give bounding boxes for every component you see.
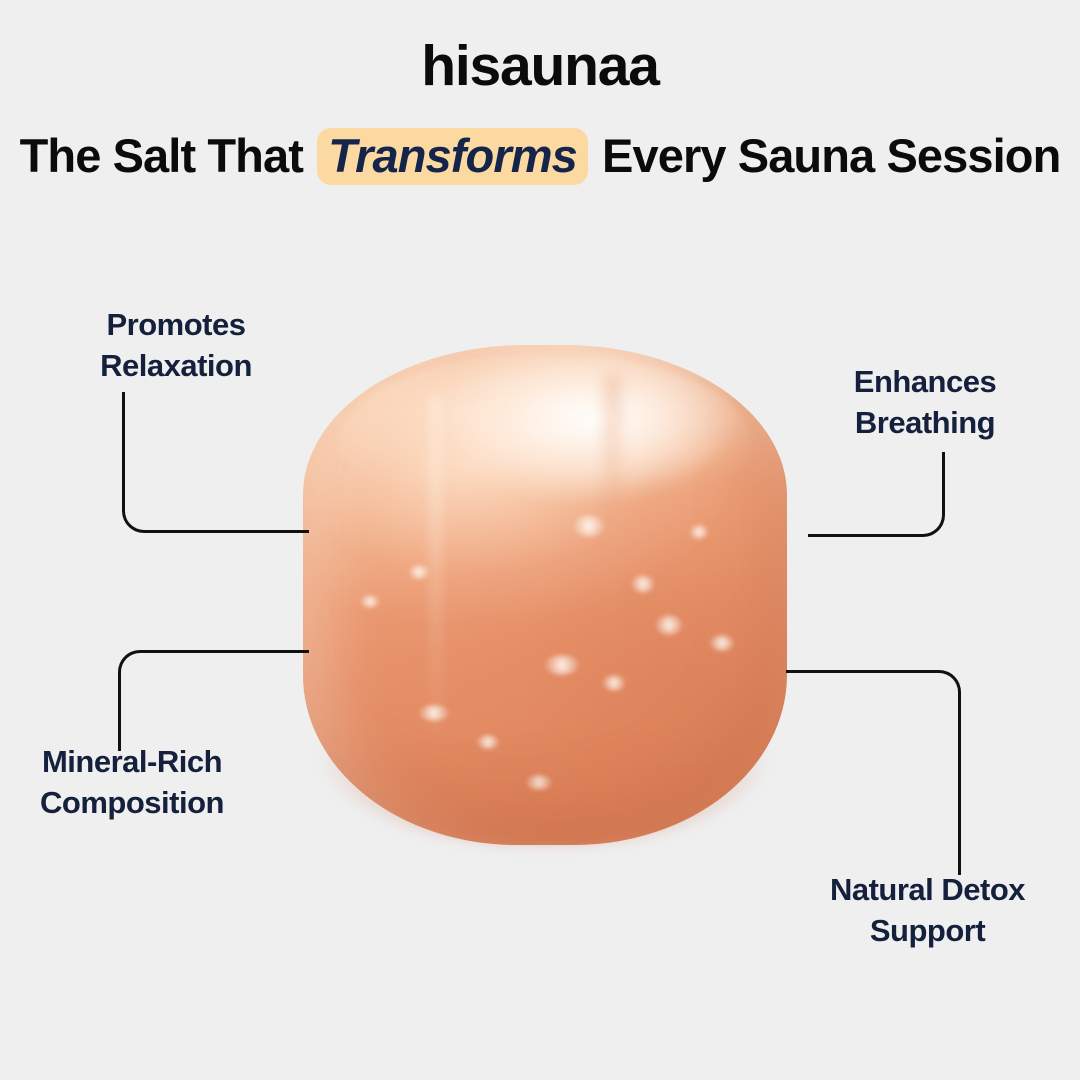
headline-highlight: Transforms (317, 128, 588, 185)
mineral-speck (710, 635, 734, 651)
salt-block-facet-edge (429, 395, 444, 755)
connector-mineral-rich (118, 650, 309, 751)
salt-block-facet-edge-right (603, 375, 622, 685)
connector-promotes-relaxation (122, 392, 309, 533)
page-title: The Salt That Transforms Every Sauna Ses… (0, 128, 1080, 185)
benefit-label-natural-detox-support: Natural Detox Support (800, 870, 1055, 952)
infographic-canvas: hisaunaa The Salt That Transforms Every … (0, 0, 1080, 1080)
mineral-speck (361, 595, 379, 608)
benefit-label-enhances-breathing: Enhances Breathing (800, 362, 1050, 444)
mineral-speck (545, 655, 579, 675)
mineral-speck (419, 705, 449, 721)
mineral-speck (632, 575, 654, 593)
connector-natural-detox (786, 670, 961, 875)
mineral-speck (603, 675, 625, 691)
mineral-speck (574, 515, 604, 537)
brand-logo: hisaunaa (0, 38, 1080, 95)
connector-enhances-breathing (808, 452, 945, 537)
headline-part-two: Every Sauna Session (590, 129, 1061, 182)
benefit-label-promotes-relaxation: Promotes Relaxation (36, 305, 316, 387)
benefit-label-mineral-rich-composition: Mineral-Rich Composition (8, 742, 256, 824)
salt-block-bottom-shadow (322, 735, 767, 845)
product-image (303, 345, 787, 845)
headline-part-one: The Salt That (20, 129, 316, 182)
